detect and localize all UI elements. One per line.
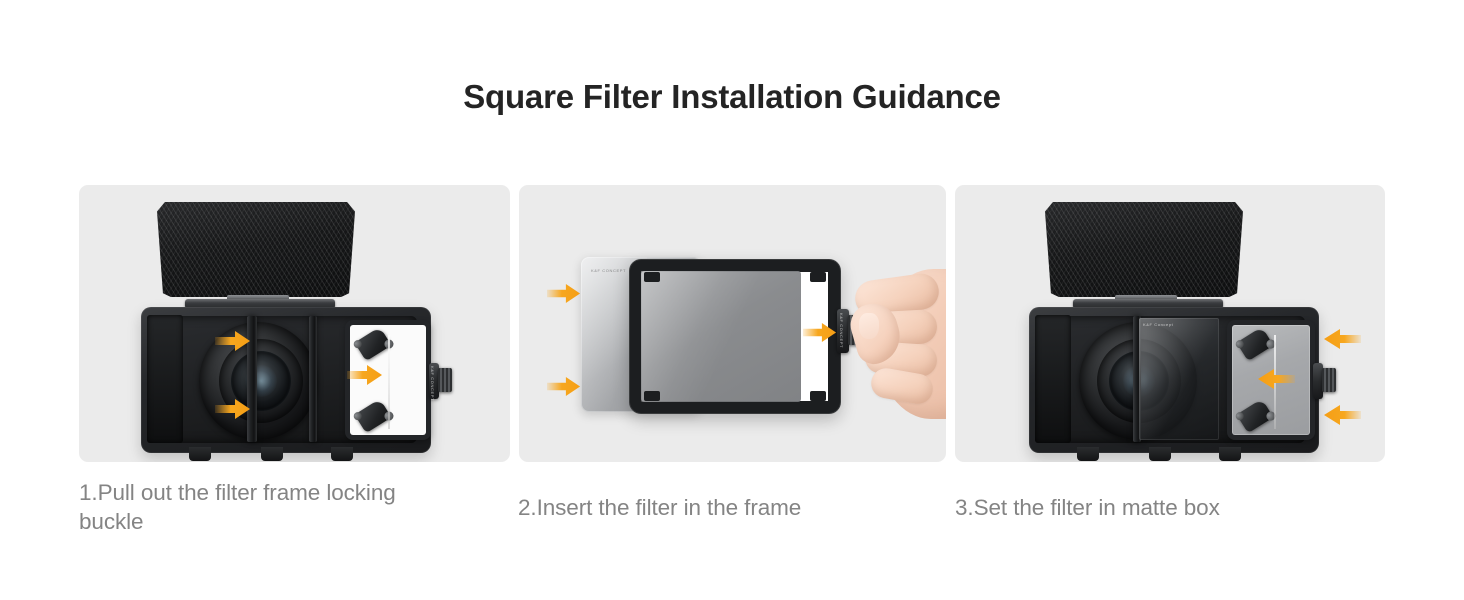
arrow-frame-holder-middle <box>347 363 383 387</box>
captions-row: 1.Pull out the filter frame locking buck… <box>0 478 1464 548</box>
frame-corner-tab-tl <box>644 272 660 282</box>
steps-panel-row: K&F CONCEPT <box>79 185 1385 462</box>
installed-filter-reflection <box>1139 318 1219 440</box>
matte-box-filter-installed-scene: K&F Concept <box>955 185 1385 462</box>
bottom-clip-left <box>1077 447 1099 461</box>
arrow-filter-slot-bottom <box>215 397 251 421</box>
left-side-flag <box>147 315 183 443</box>
step-1-image-panel: K&F CONCEPT <box>79 185 510 462</box>
filter-slot-blade-rear <box>309 316 317 442</box>
arrow-filter-left-top <box>547 282 581 305</box>
arrow-frame-right-bottom <box>1321 403 1361 427</box>
page-title: Square Filter Installation Guidance <box>0 78 1464 116</box>
thumb-nail <box>859 313 879 339</box>
step-2-image-panel: K&F CONCEPT K&F CONCEPT <box>519 185 946 462</box>
arrow-frame-right-top <box>1321 327 1361 351</box>
frame-corner-tab-tr <box>810 272 826 282</box>
arrow-filter-slot-top <box>215 329 251 353</box>
filter-slot-guide-line <box>388 335 390 429</box>
frame-lock-knob[interactable] <box>1322 368 1336 392</box>
frame-corner-tab-bl <box>644 391 660 401</box>
frame-corner-tab-br <box>810 391 826 401</box>
arrow-knob-right <box>803 321 837 344</box>
installed-filter-brand: K&F Concept <box>1143 322 1173 327</box>
step-3-caption: 3.Set the filter in matte box <box>955 478 1385 522</box>
step-3-image-panel: K&F Concept <box>955 185 1385 462</box>
step-1-caption: 1.Pull out the filter frame locking buck… <box>79 478 519 536</box>
filter-brand-text: K&F CONCEPT <box>591 268 626 273</box>
bottom-clip-right <box>331 447 353 461</box>
installation-guidance-page: Square Filter Installation Guidance <box>0 0 1464 600</box>
carbon-fiber-top-flag <box>157 202 355 297</box>
knob-brand-text: K&F CONCEPT <box>430 366 435 401</box>
matte-box-open-scene: K&F CONCEPT <box>79 185 510 462</box>
left-side-flag <box>1035 315 1071 443</box>
bottom-clip-center <box>261 447 283 461</box>
knob-brand-label: K&F CONCEPT <box>839 313 844 348</box>
step-2-caption: 2.Insert the filter in the frame <box>518 478 948 522</box>
arrow-filter-left-bottom <box>547 375 581 398</box>
bottom-clip-left <box>189 447 211 461</box>
frame-lock-knob[interactable] <box>438 368 452 392</box>
inserted-filter-glass <box>641 271 801 402</box>
bottom-clip-right <box>1219 447 1241 461</box>
filter-insert-scene: K&F CONCEPT K&F CONCEPT <box>519 185 946 462</box>
carbon-fiber-top-flag <box>1045 202 1243 297</box>
arrow-frame-right-middle <box>1255 367 1295 391</box>
bottom-clip-center <box>1149 447 1171 461</box>
